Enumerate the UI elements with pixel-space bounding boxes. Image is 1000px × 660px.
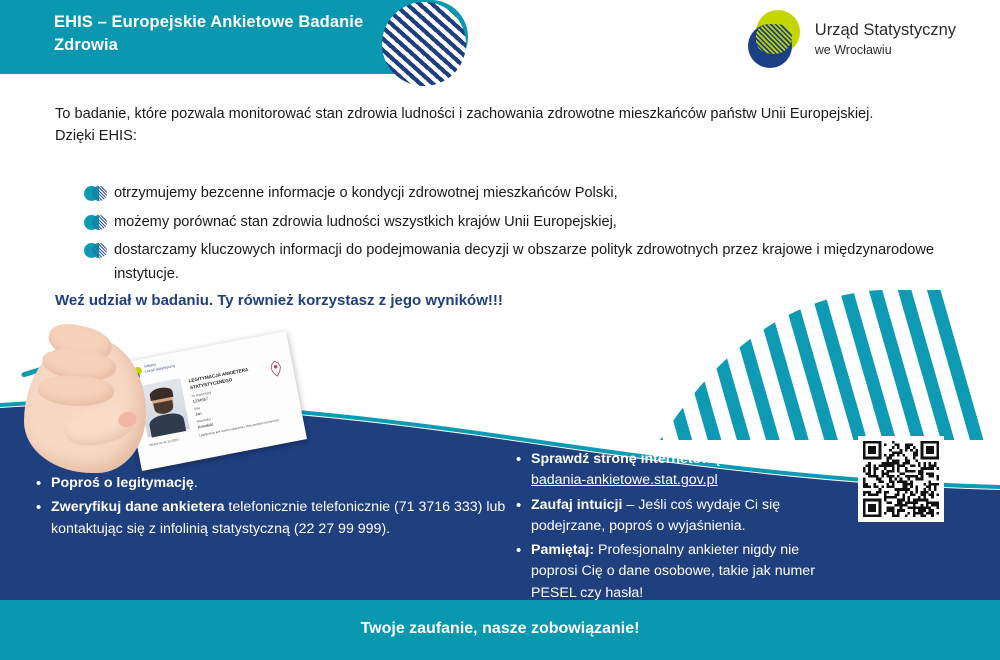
qr-code-icon[interactable] [858,436,944,522]
footer-slogan: Twoje zaufanie, nasze zobowiązanie! [0,620,1000,638]
page-title: EHIS – Europejskie Ankietowe Badanie Zdr… [54,11,424,58]
point-bold: Poproś o legitymację [51,475,194,491]
point-bold: Zaufaj intuicji [531,497,622,513]
feature-text: możemy porównać stan zdrowia ludności ws… [114,211,617,235]
double-circle-bullet-icon [84,241,114,260]
logo-line-2: we Wrocławiu [815,42,956,58]
list-item: • Poproś o legitymację. [36,473,506,494]
id-card-name-value: Jan [195,411,202,417]
qr-code-matrix [863,441,939,517]
eagle-emblem-icon [266,358,285,380]
logo-mark-icon [748,10,804,68]
double-circle-bullet-icon [84,184,114,203]
organisation-logo: Urząd Statystyczny we Wrocławiu [748,10,956,68]
bullet-dot-icon: • [516,540,531,604]
point-bold: Sprawdź stronę internetową – [531,451,732,467]
left-points-list: • Poproś o legitymację. • Zweryfikuj dan… [36,473,506,543]
right-points-list: • Sprawdź stronę internetową – badania-a… [516,449,846,607]
list-item: • Sprawdź stronę internetową – badania-a… [516,449,846,492]
list-item: • Pamiętaj: Profesjonalny ankieter nigdy… [516,540,846,604]
bullet-dot-icon: • [36,497,51,540]
list-item: • Zweryfikuj dane ankietera telefoniczni… [36,497,506,540]
list-item: • Zaufaj intuicji – Jeśli coś wydaje Ci … [516,495,846,538]
website-link[interactable]: badania-ankietowe.stat.gov.pl [531,472,718,488]
id-card-footer-left: Ważna do 31.12.2025 r. [149,435,191,447]
list-item: dostarczamy kluczowych informacji do pod… [84,239,944,286]
logo-line-1: Urząd Statystyczny [815,20,956,41]
bullet-dot-icon: • [516,495,531,538]
intro-block: To badanie, które pozwala monitorować st… [55,103,935,147]
bullet-dot-icon: • [36,473,51,494]
id-card-title: LEGITYMACJA ANKIETERA STATYSTYCZNEGO [188,363,271,392]
panel-heading: Jak sprawdzić ankietera statystycznego? [340,396,641,414]
point-bold: Zweryfikuj dane ankietera [51,499,224,515]
list-item: możemy porównać stan zdrowia ludności ws… [84,211,944,235]
intro-paragraph: To badanie, które pozwala monitorować st… [55,103,935,125]
double-circle-bullet-icon [84,213,114,232]
bullet-dot-icon: • [516,449,531,492]
photo-hand-holding-id-card: Główny Urząd Statystyczny LEGITYMACJA AN… [18,328,318,473]
point-rest: . [194,475,198,491]
list-item: otrzymujemy bezcenne informacje o kondyc… [84,182,944,206]
feature-list: otrzymujemy bezcenne informacje o kondyc… [84,182,944,292]
id-card-footer-right: Legitymacja jest ważna wyłącznie z dokum… [199,416,290,438]
point-bold: Pamiętaj: [531,542,594,558]
id-card: Główny Urząd Statystyczny LEGITYMACJA AN… [121,331,307,471]
feature-text: otrzymujemy bezcenne informacje o kondyc… [114,182,618,206]
intro-lead-in: Dzięki EHIS: [55,125,935,147]
feature-text: dostarczamy kluczowych informacji do pod… [114,239,944,286]
